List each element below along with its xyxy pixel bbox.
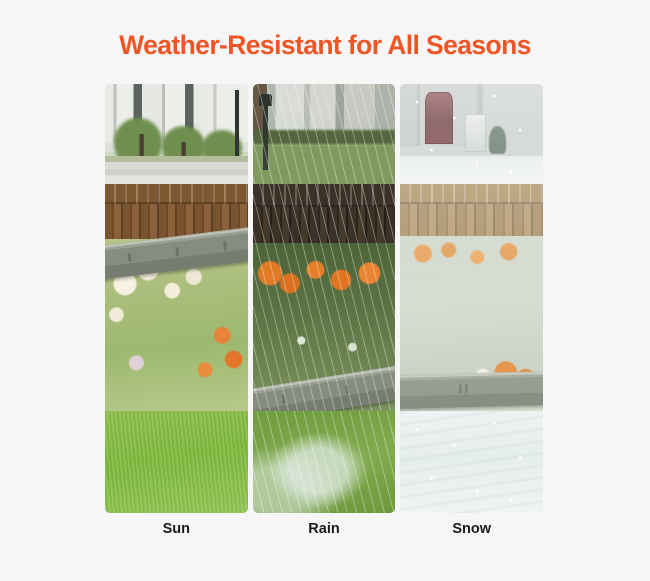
caption-sun: Sun <box>105 521 248 537</box>
hedge-row <box>253 130 396 144</box>
front-door <box>425 92 454 144</box>
season-panel-sun[interactable] <box>105 84 248 513</box>
caption-rain: Rain <box>253 521 396 537</box>
snowflakes-overlay <box>400 411 543 513</box>
season-panel-row <box>105 84 543 513</box>
rain-streaks-overlay <box>253 411 396 513</box>
weather-resistant-poster: Weather-Resistant for All Seasons <box>0 0 650 581</box>
fence-pickets <box>400 184 543 204</box>
snow-lawn-photo <box>400 411 543 513</box>
edging-stake <box>282 395 286 404</box>
rain-top-photo <box>253 84 396 184</box>
snow-top-photo <box>400 84 543 184</box>
stone-post <box>465 114 486 152</box>
lamp-post <box>263 102 268 170</box>
edging-stake <box>345 385 349 394</box>
season-panel-snow[interactable] <box>400 84 543 513</box>
page-title: Weather-Resistant for All Seasons <box>0 30 650 61</box>
edging-stake <box>223 241 227 250</box>
fence-pickets <box>105 184 248 204</box>
edging-stake <box>128 253 132 262</box>
sidewalk <box>105 156 248 184</box>
rain-flower-bed-photo <box>253 184 396 411</box>
snow-flower-bed-photo <box>400 184 543 411</box>
house-facade <box>253 84 396 136</box>
snow-ground <box>400 158 543 184</box>
season-caption-row: Sun Rain Snow <box>105 521 543 537</box>
sun-lawn-photo <box>105 411 248 513</box>
garden-edging-strip <box>400 371 543 409</box>
edging-stake <box>458 384 461 393</box>
rain-lawn-photo <box>253 411 396 513</box>
sun-flower-bed-photo <box>105 184 248 411</box>
season-panel-rain[interactable] <box>253 84 396 513</box>
caption-snow: Snow <box>400 521 543 537</box>
evergreen-shrub <box>489 126 506 154</box>
sun-top-photo <box>105 84 248 184</box>
edging-stake <box>175 247 179 256</box>
fence-pickets <box>253 184 396 207</box>
edging-stake <box>465 384 468 393</box>
